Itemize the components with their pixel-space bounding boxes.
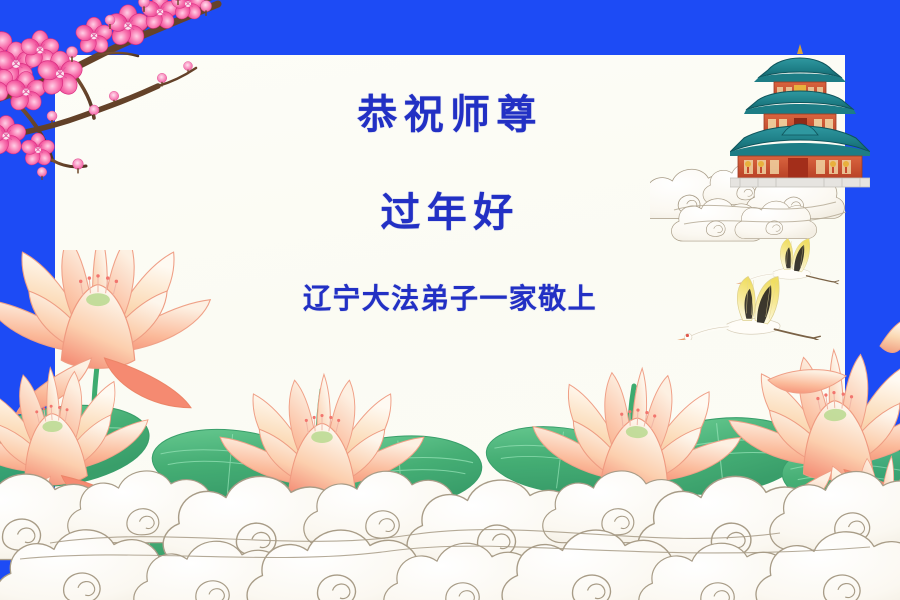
greeting-card-image: 恭祝师尊 过年好 辽宁大法弟子一家敬上 [0,0,900,600]
card-panel [55,55,845,585]
